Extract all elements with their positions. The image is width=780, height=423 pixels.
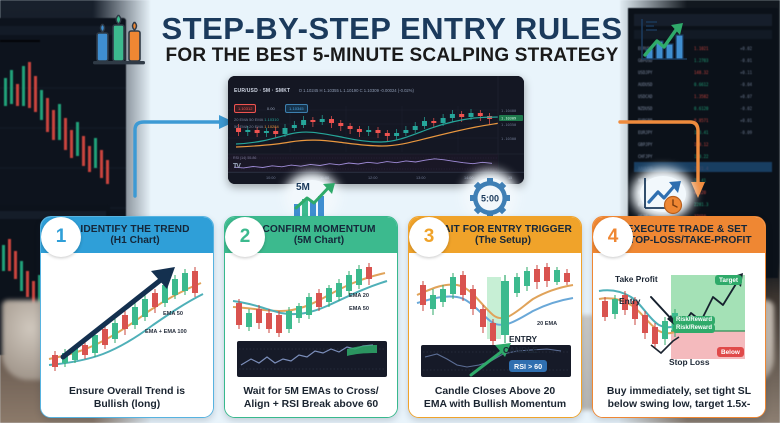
step-card-3-number: 3 bbox=[409, 217, 449, 257]
step-card-4-caption: Buy immediately, set tight SL below swin… bbox=[593, 379, 765, 417]
stop-loss-label: Stop Loss bbox=[669, 358, 709, 367]
chart-chip-2[interactable]: 1.10345 bbox=[285, 104, 307, 113]
step-card-1-number: 1 bbox=[41, 217, 81, 257]
step-card-4-subtitle: STOP-LOSS/TAKE-PROFIT bbox=[622, 235, 751, 247]
below-tag: Below bbox=[717, 347, 744, 357]
step-card-2-title: CONFIRM MOMENTUM bbox=[262, 224, 375, 235]
step-card-3-subtitle: (The Setup) bbox=[475, 235, 531, 247]
bar-chart-growth-icon bbox=[633, 13, 691, 67]
page-title: STEP-BY-STEP ENTRY RULES bbox=[161, 13, 622, 45]
step-card-3-body: 20 EMA ENTRY CANDLE RSI > 60 bbox=[409, 253, 581, 383]
ema-value-1: 1.10310 bbox=[264, 117, 278, 122]
time-tick-0: 10:00 bbox=[266, 176, 276, 180]
chart-ohlc: O 1.10245 H 1.10355 L 1.10190 C 1.10309 … bbox=[299, 88, 414, 93]
chart-chip-1[interactable]: 0.00 bbox=[264, 105, 278, 112]
entry-label: Entry bbox=[619, 297, 640, 306]
ema-20-label: EMA 20 bbox=[349, 293, 369, 299]
ema-20-label: 20 EMA bbox=[537, 321, 557, 327]
svg-text:-0.02: -0.02 bbox=[740, 106, 753, 111]
step-card-4-number: 4 bbox=[593, 217, 633, 257]
step-card-4-body: Take Profit Entry Stop Loss Target Below… bbox=[593, 253, 765, 383]
chart-rsi-legend: RSI (14) 55.86 bbox=[233, 156, 256, 160]
entry-candle-label: ENTRY bbox=[509, 335, 537, 344]
ema-value-2: 1.10284 bbox=[264, 124, 278, 129]
step-card-2-subtitle: (5M Chart) bbox=[294, 235, 344, 247]
candlestick-candles-icon bbox=[89, 11, 151, 69]
title-block: STEP-BY-STEP ENTRY RULES FOR THE BEST 5-… bbox=[161, 13, 622, 66]
page-subtitle: FOR THE BEST 5-MINUTE SCALPING STRATEGY bbox=[161, 45, 622, 67]
rsi-threshold-label: RSI > 60 bbox=[509, 360, 547, 372]
infographic-header: STEP-BY-STEP ENTRY RULES FOR THE BEST 5-… bbox=[0, 4, 780, 76]
step-card-3[interactable]: WAIT FOR ENTRY TRIGGER (The Setup) bbox=[408, 216, 582, 418]
step-2-chart bbox=[225, 253, 398, 383]
step-card-1-caption: Ensure Overall Trend is Bullish (long) bbox=[41, 379, 213, 417]
ema-50-label: EMA 50 bbox=[349, 306, 369, 312]
step-card-3-caption: Candle Closes Above 20 EMA with Bullish … bbox=[409, 379, 581, 417]
svg-text:-0.04: -0.04 bbox=[740, 82, 753, 87]
badge-timer-label: 5:00 bbox=[481, 194, 499, 204]
ema-50-label: EMA 50 bbox=[163, 311, 183, 317]
chart-symbol: EUR/USD · 5M · SMKT bbox=[234, 88, 290, 94]
step-card-2-body: EMA 20 EMA 50 bbox=[225, 253, 397, 383]
tradingview-chart-panel[interactable]: 1.104001.10350 1.10300 1.10309 EUR/USD ·… bbox=[228, 76, 524, 184]
target-tag: Target bbox=[715, 275, 742, 285]
svg-text:AUDUSD: AUDUSD bbox=[638, 82, 653, 87]
svg-text:1.10300: 1.10300 bbox=[501, 137, 516, 141]
step-card-1-subtitle: (H1 Chart) bbox=[110, 235, 159, 247]
chart-header: EUR/USD · 5M · SMKT O 1.10245 H 1.10355 … bbox=[234, 79, 518, 109]
svg-text:+0.07: +0.07 bbox=[740, 94, 753, 99]
risk-reward-tag2: Risk/Reward bbox=[673, 324, 715, 333]
step-card-3-title: WAIT FOR ENTRY TRIGGER bbox=[434, 224, 572, 235]
chart-chip-0[interactable]: 1.10312 bbox=[234, 104, 256, 113]
step-card-2-caption: Wait for 5M EMAs to Cross/ Align + RSI B… bbox=[225, 379, 397, 417]
step-card-4[interactable]: EXECUTE TRADE & SET STOP-LOSS/TAKE-PROFI… bbox=[592, 216, 766, 418]
time-tick-2: 12:00 bbox=[368, 176, 378, 180]
step-card-4-title: EXECUTE TRADE & SET bbox=[627, 224, 748, 235]
flow-arrow-left bbox=[130, 108, 240, 198]
step-1-chart bbox=[41, 253, 214, 383]
step-3-chart bbox=[409, 253, 582, 383]
step-card-2[interactable]: CONFIRM MOMENTUM (5M Chart) bbox=[224, 216, 398, 418]
svg-text:0.6612: 0.6612 bbox=[694, 82, 709, 87]
take-profit-label: Take Profit bbox=[615, 275, 658, 284]
time-tick-3: 13:00 bbox=[416, 176, 426, 180]
chart-ema-legend-1: 20 EMA 50 EMA 1.10310 bbox=[234, 117, 518, 122]
ema-100-label: EMA + EMA 100 bbox=[145, 329, 187, 335]
entry-candle-label2: CANDLE bbox=[503, 346, 538, 355]
step-card-2-number: 2 bbox=[225, 217, 265, 257]
svg-text:-0.09: -0.09 bbox=[740, 130, 753, 135]
svg-text:1.3582: 1.3582 bbox=[694, 94, 709, 99]
badge-5m-label: 5M bbox=[296, 182, 310, 193]
step-cards: IDENTIFY THE TREND (H1 Chart) bbox=[0, 208, 780, 418]
svg-text:USDCAD: USDCAD bbox=[638, 94, 653, 99]
tradingview-logo: TV bbox=[233, 163, 240, 170]
step-card-1[interactable]: IDENTIFY THE TREND (H1 Chart) bbox=[40, 216, 214, 418]
chart-ema-legend-2: 50 EMA 20 EMA 1.10284 bbox=[234, 124, 518, 129]
step-card-1-title: IDENTIFY THE TREND bbox=[80, 224, 189, 235]
svg-text:+0.01: +0.01 bbox=[740, 118, 753, 123]
step-card-1-body: EMA 50 EMA + EMA 100 bbox=[41, 253, 213, 383]
